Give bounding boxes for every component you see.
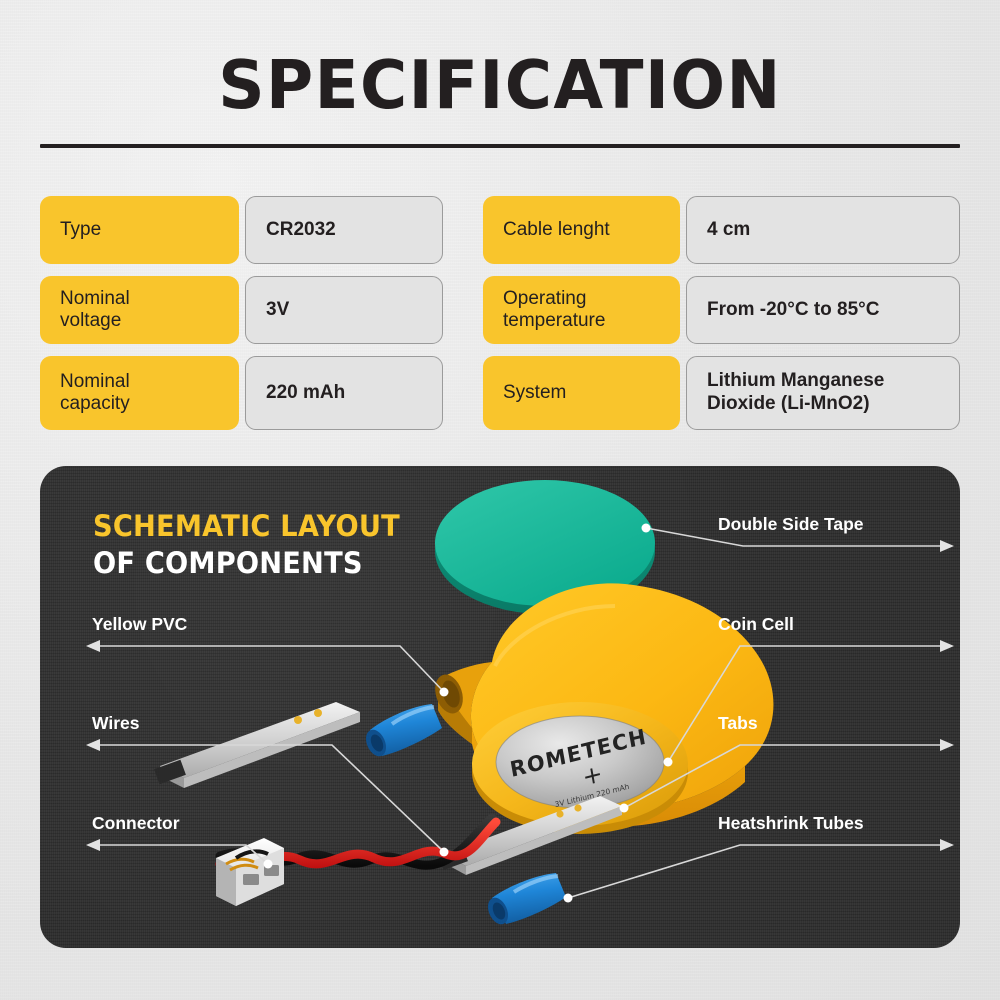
spec-value-text: From -20°C to 85°C: [707, 299, 880, 322]
header-divider: [40, 144, 960, 148]
spec-label-line2: capacity: [60, 393, 130, 415]
callout-label-double-side-tape: Double Side Tape: [718, 514, 864, 535]
schematic-panel: SCHEMATIC LAYOUT OF COMPONENTS: [40, 466, 960, 948]
spec-value-nominal-voltage: 3V: [245, 276, 443, 344]
spec-label-line2: temperature: [503, 310, 605, 332]
spec-value-text: 4 cm: [707, 219, 750, 242]
spec-value-line1: Lithium Manganese: [707, 370, 884, 393]
callout-label-connector: Connector: [92, 813, 180, 834]
spec-label-text: Type: [60, 219, 101, 241]
spec-row-system: System Lithium Manganese Dioxide (Li-MnO…: [483, 356, 960, 430]
specification-infographic: SPECIFICATION Type CR2032 Nominal voltag…: [0, 0, 1000, 1000]
callout-label-tabs: Tabs: [718, 713, 758, 734]
spec-label-line1: Nominal: [60, 288, 130, 310]
spec-value-type: CR2032: [245, 196, 443, 264]
spec-label-nominal-voltage: Nominal voltage: [40, 276, 239, 344]
schematic-heading: SCHEMATIC LAYOUT OF COMPONENTS: [93, 508, 400, 582]
spec-row-cable-length: Cable lenght 4 cm: [483, 196, 960, 264]
callout-label-heatshrink-tubes: Heatshrink Tubes: [718, 813, 864, 834]
spec-label-nominal-capacity: Nominal capacity: [40, 356, 239, 430]
spec-label-type: Type: [40, 196, 239, 264]
schematic-heading-line1: SCHEMATIC LAYOUT: [93, 508, 400, 545]
spec-label-cable-length: Cable lenght: [483, 196, 680, 264]
spec-value-text: 3V: [266, 299, 289, 322]
spec-label-line1: Nominal: [60, 371, 130, 393]
spec-table-left-column: Type CR2032 Nominal voltage 3V Nominal: [40, 196, 443, 442]
spec-value-operating-temperature: From -20°C to 85°C: [686, 276, 960, 344]
spec-label-line1: Operating: [503, 288, 605, 310]
page-title: SPECIFICATION: [20, 46, 980, 124]
spec-label-line2: voltage: [60, 310, 130, 332]
callout-label-wires: Wires: [92, 713, 140, 734]
spec-row-operating-temperature: Operating temperature From -20°C to 85°C: [483, 276, 960, 344]
schematic-heading-line2: OF COMPONENTS: [93, 545, 400, 582]
spec-value-line2: Dioxide (Li-MnO2): [707, 393, 884, 416]
spec-value-nominal-capacity: 220 mAh: [245, 356, 443, 430]
spec-label-system: System: [483, 356, 680, 430]
spec-label-text: Cable lenght: [503, 219, 610, 241]
spec-row-type: Type CR2032: [40, 196, 443, 264]
callout-label-coin-cell: Coin Cell: [718, 614, 794, 635]
spec-value-text: CR2032: [266, 219, 336, 242]
spec-row-nominal-capacity: Nominal capacity 220 mAh: [40, 356, 443, 430]
callout-label-yellow-pvc: Yellow PVC: [92, 614, 187, 635]
spec-value-system: Lithium Manganese Dioxide (Li-MnO2): [686, 356, 960, 430]
spec-table-right-column: Cable lenght 4 cm Operating temperature …: [483, 196, 960, 442]
spec-value-cable-length: 4 cm: [686, 196, 960, 264]
spec-label-text: System: [503, 382, 566, 404]
spec-value-text: 220 mAh: [266, 382, 345, 405]
spec-row-nominal-voltage: Nominal voltage 3V: [40, 276, 443, 344]
spec-label-operating-temperature: Operating temperature: [483, 276, 680, 344]
